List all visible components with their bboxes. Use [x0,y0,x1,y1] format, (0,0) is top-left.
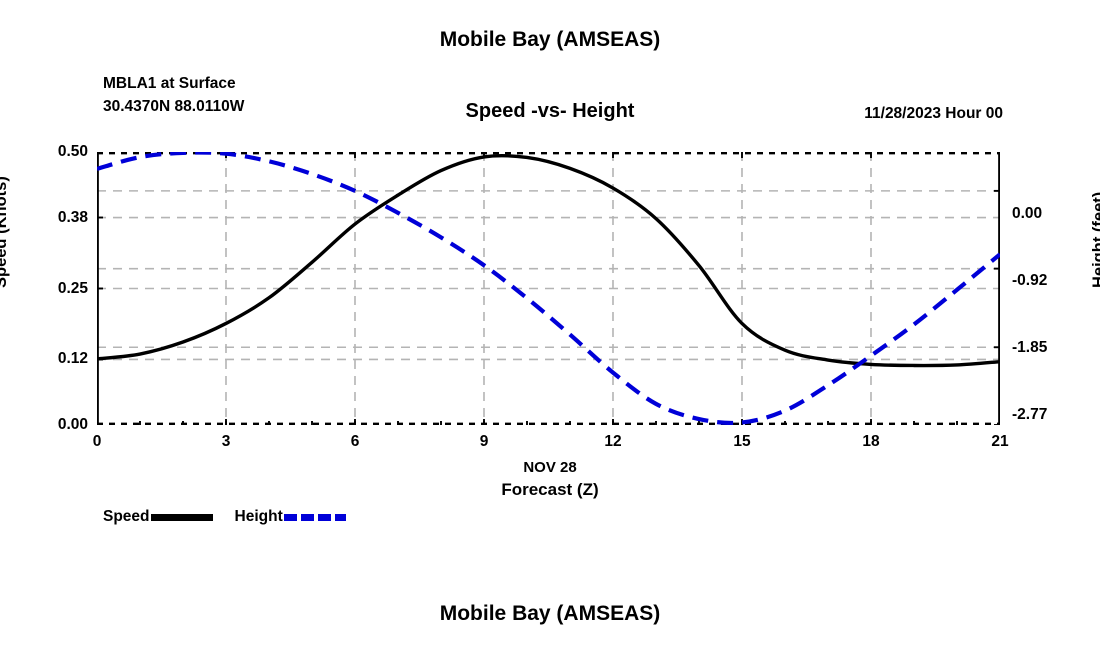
chart-plot-area [97,152,1000,425]
y-tick-right-3: -2.77 [1012,406,1047,424]
legend-swatch-height-icon [284,514,346,521]
y-tick-left-3: 0.38 [58,209,88,227]
chart-svg [97,152,1000,425]
legend-label-height: Height [235,508,283,526]
y-axis-right-title: Height (feet) [1090,192,1100,288]
station-name-line: MBLA1 at Surface [103,72,244,95]
x-tick-3: 3 [222,433,231,451]
forecast-timestamp: 11/28/2023 Hour 00 [864,105,1003,123]
legend-entry-height[interactable]: Height [235,508,346,526]
gridlines-left-axis [97,218,1000,360]
y-tick-left-0: 0.00 [58,416,88,434]
page-title-bottom: Mobile Bay (AMSEAS) [0,602,1100,626]
legend-swatch-speed-icon [151,514,213,521]
x-axis-title: Forecast (Z) [0,480,1100,500]
y-axis-left-title: Speed (Knots) [0,176,11,288]
speed-line-series [97,156,1000,366]
y-tick-left-2: 0.25 [58,280,88,298]
y-tick-right-1: -0.92 [1012,272,1047,290]
y-tick-left-1: 0.12 [58,350,88,368]
x-axis-date-label: NOV 28 [0,459,1100,476]
legend-entry-speed[interactable]: Speed [103,508,213,526]
page-title-top: Mobile Bay (AMSEAS) [0,28,1100,52]
y-tick-right-2: -1.85 [1012,339,1047,357]
x-tick-0: 0 [93,433,102,451]
x-tick-18: 18 [862,433,879,451]
chart-legend: Speed Height [103,508,346,526]
x-tick-6: 6 [351,433,360,451]
x-tick-21: 21 [991,433,1008,451]
legend-label-speed: Speed [103,508,150,526]
x-tick-12: 12 [604,433,621,451]
x-tick-9: 9 [480,433,489,451]
y-tick-right-0: 0.00 [1012,205,1042,223]
x-tick-15: 15 [733,433,750,451]
y-tick-left-4: 0.50 [58,143,88,161]
